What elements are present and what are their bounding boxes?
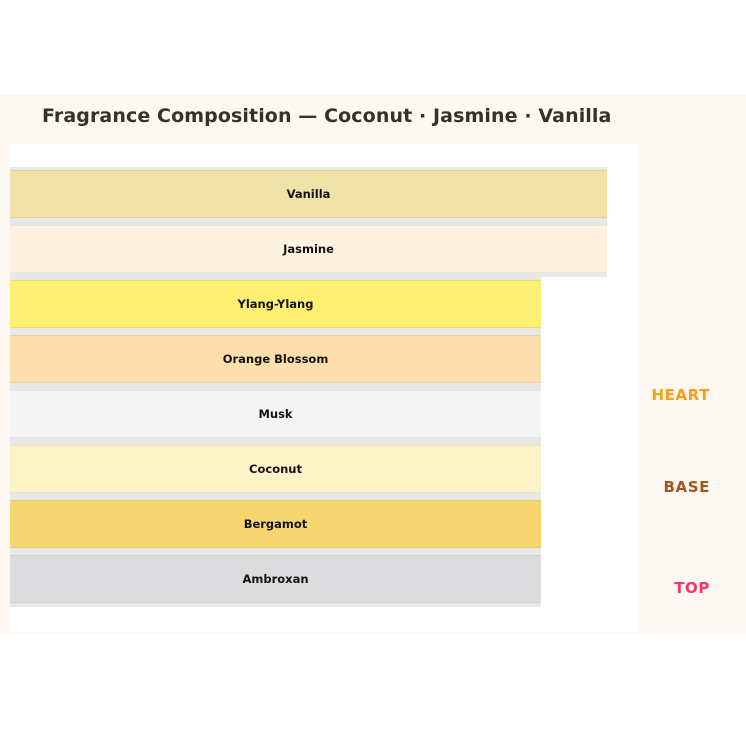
bar-row: Vanilla <box>10 167 607 222</box>
note-label-heart: HEART <box>651 386 710 404</box>
figure-canvas: Fragrance Composition — Coconut · Jasmin… <box>0 95 746 635</box>
bar-row: Musk <box>10 387 541 442</box>
bar-row: Bergamot <box>10 497 541 552</box>
bar-label: Coconut <box>10 442 541 497</box>
bar-row: Ylang-Ylang <box>10 277 541 332</box>
bar-label: Musk <box>10 387 541 442</box>
bar-row: Orange Blossom <box>10 332 541 387</box>
note-label-top: TOP <box>674 579 710 597</box>
bar-row: Jasmine <box>10 222 607 277</box>
bar-label: Bergamot <box>10 497 541 552</box>
bar-label: Jasmine <box>10 222 607 277</box>
bar-row: Ambroxan <box>10 552 541 607</box>
bar-label: Ambroxan <box>10 552 541 607</box>
bar-label: Vanilla <box>10 167 607 222</box>
plot-area: VanillaJasmineYlang-YlangOrange BlossomM… <box>10 144 637 632</box>
bar-label: Ylang-Ylang <box>10 277 541 332</box>
chart-title: Fragrance Composition — Coconut · Jasmin… <box>42 105 611 127</box>
bar-label: Orange Blossom <box>10 332 541 387</box>
bar-row: Coconut <box>10 442 541 497</box>
note-label-base: BASE <box>664 478 711 496</box>
